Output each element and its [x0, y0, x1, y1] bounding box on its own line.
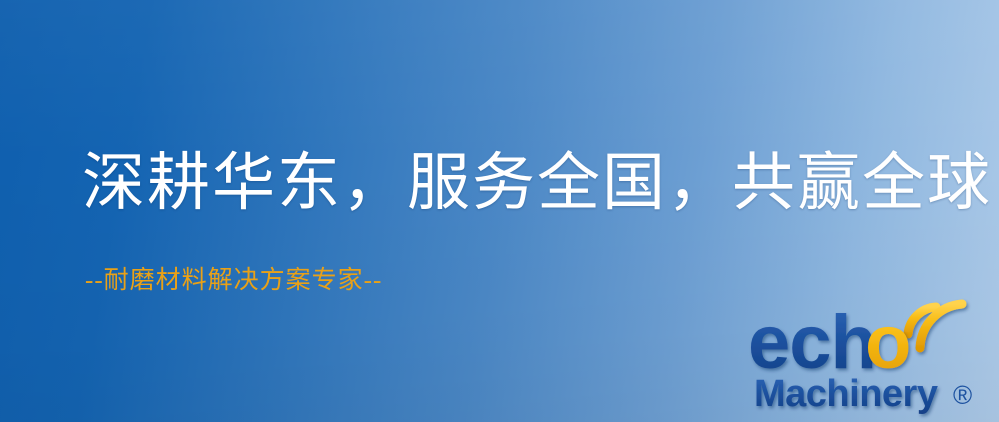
registered-trademark-icon: ®: [953, 380, 972, 410]
echo-machinery-logo: ech o Machinery ®: [748, 296, 996, 422]
logo-subtext: Machinery: [754, 373, 938, 415]
banner-headline: 深耕华东，服务全国，共赢全球: [82, 152, 992, 215]
promo-banner: 深耕华东，服务全国，共赢全球 --耐磨材料解决方案专家--: [0, 0, 999, 422]
banner-subtitle: --耐磨材料解决方案专家--: [85, 268, 382, 293]
echo-wave-icon: [908, 304, 962, 348]
